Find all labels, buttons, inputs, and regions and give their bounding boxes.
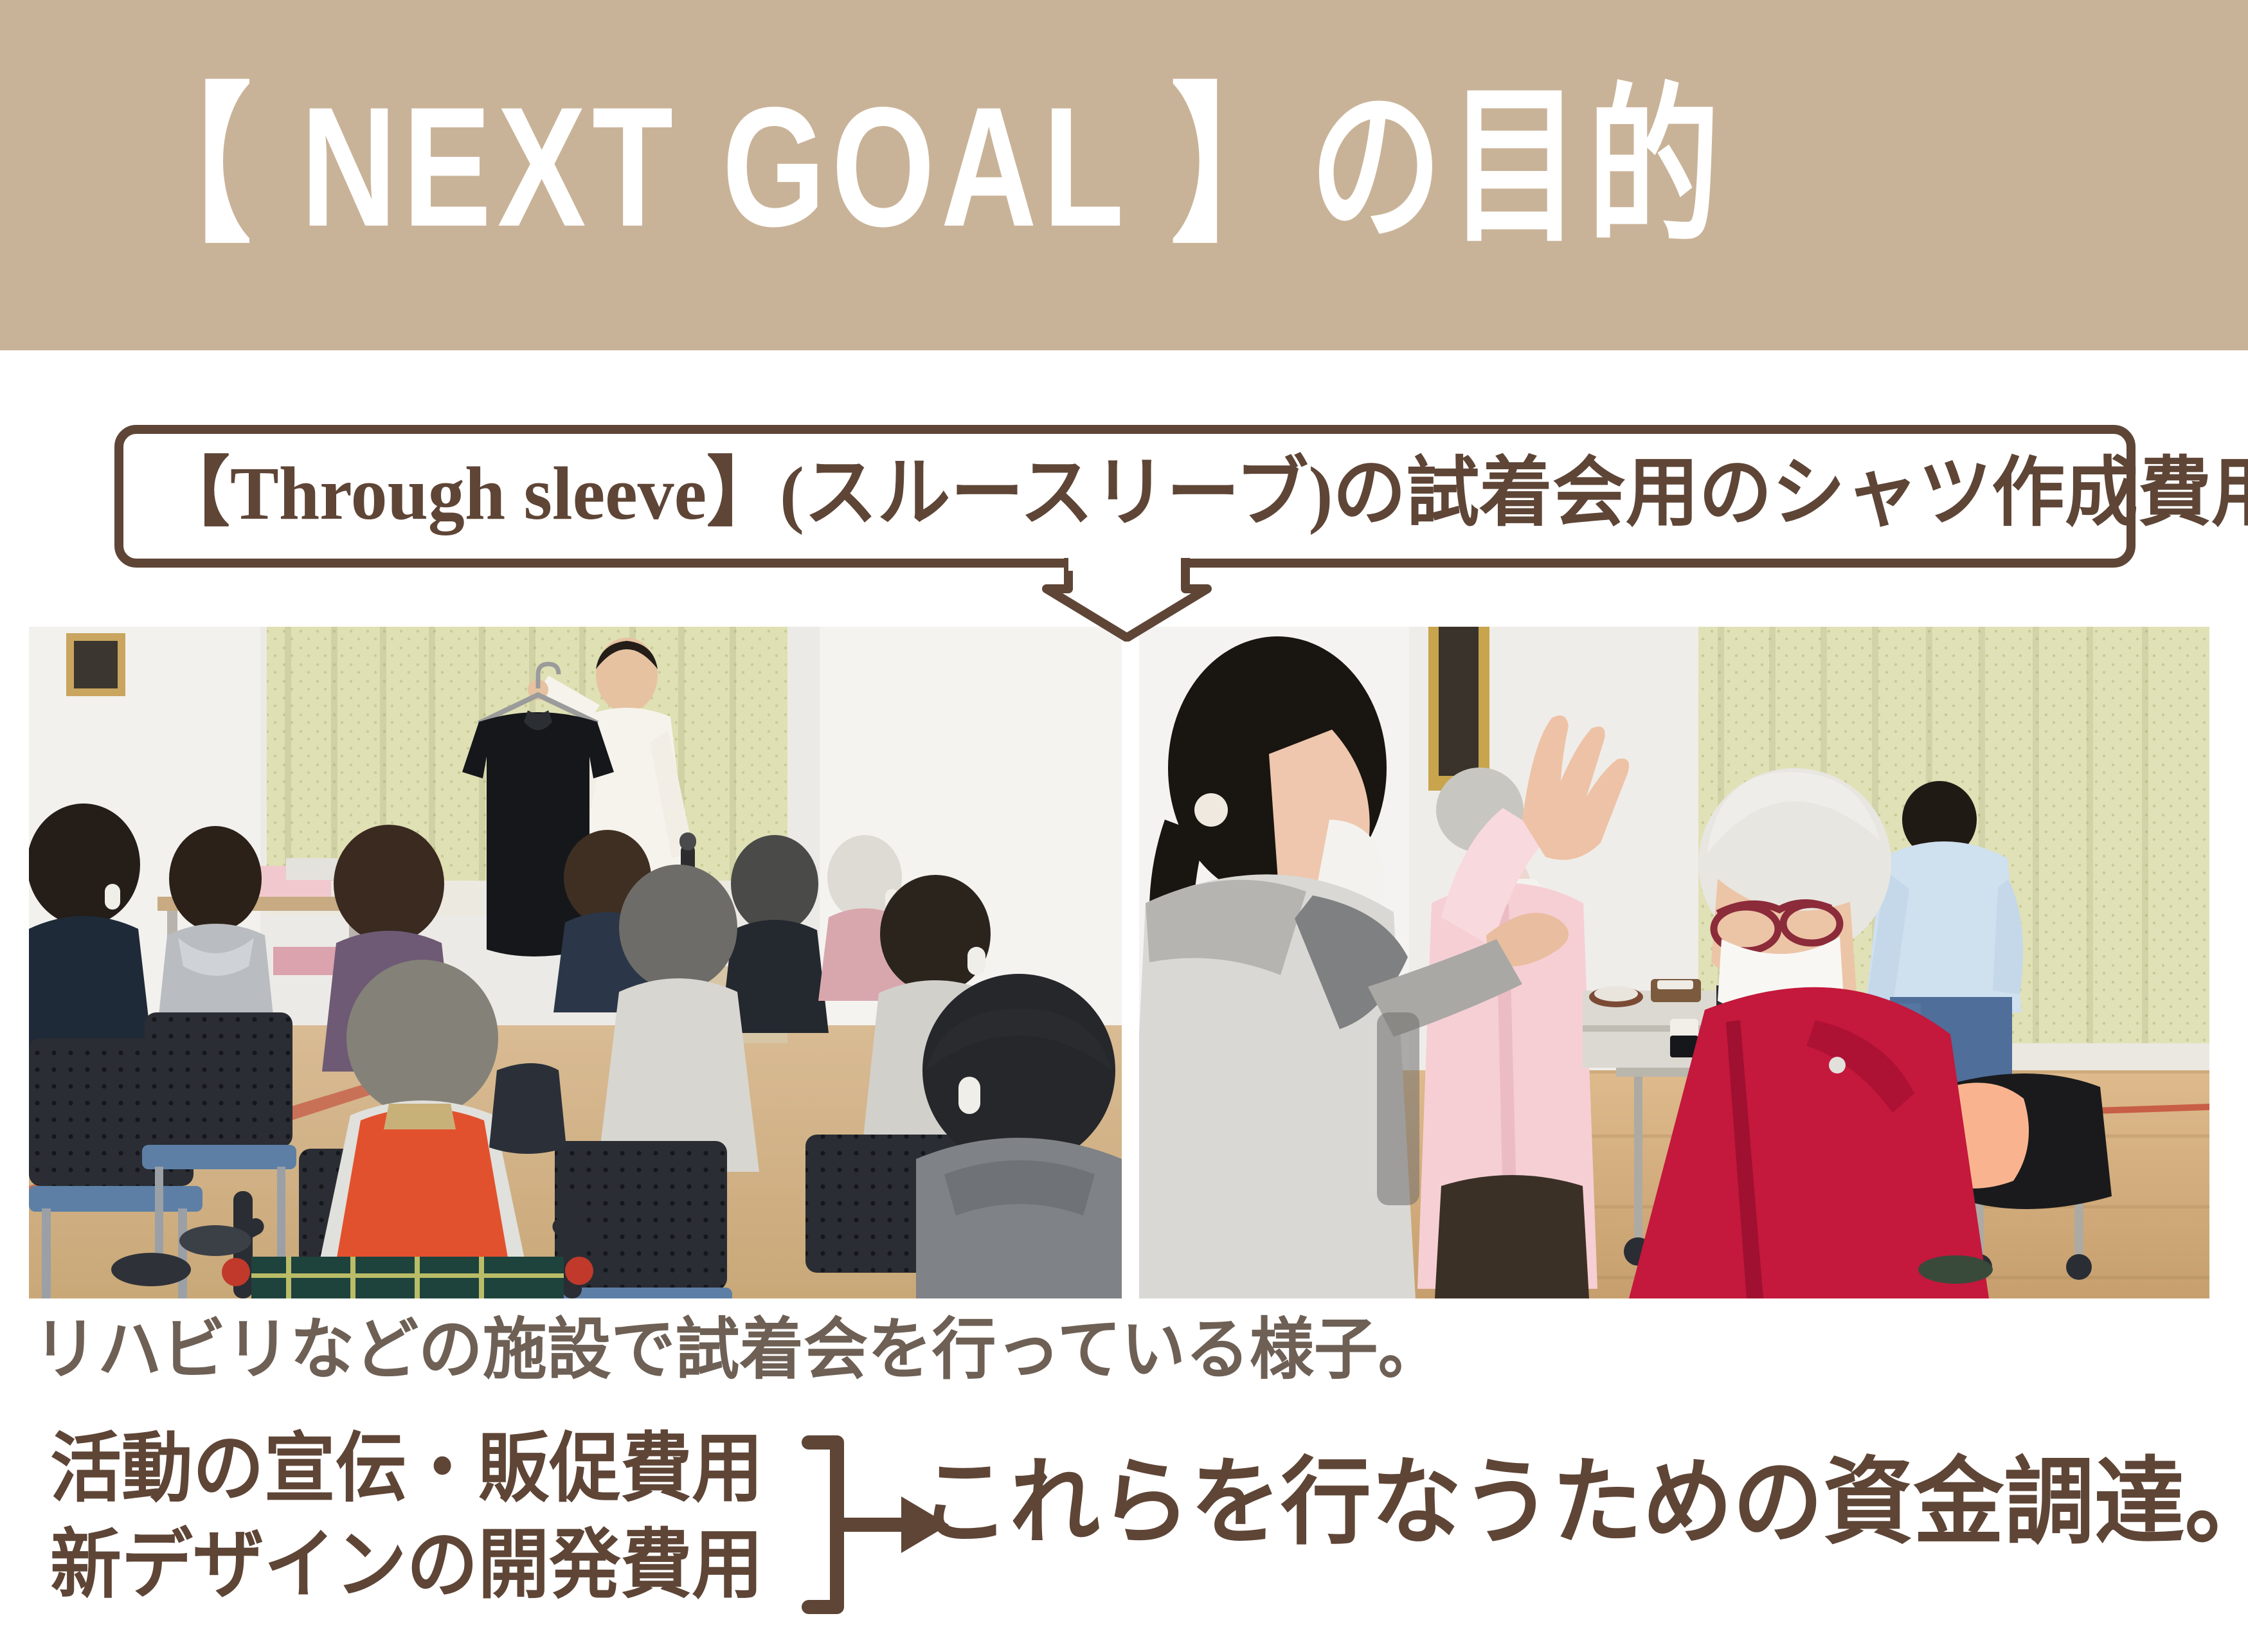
cost-item: 新デザインの開発費用 <box>50 1517 763 1613</box>
cost-item-list: 活動の宣伝・販促費用 新デザインの開発費用 <box>50 1421 809 1613</box>
page-title: 【 NEXT GOAL 】の目的 <box>119 82 1726 253</box>
photo-right <box>1139 627 2209 1298</box>
photo-left-illustration <box>29 627 1122 1298</box>
summary-block: 活動の宣伝・販促費用 新デザインの開発費用 これらを行なうための資金調達。 <box>0 1421 2248 1633</box>
callout-arrow-gap-mask <box>1068 554 1178 571</box>
header-banner: 【 NEXT GOAL 】の目的 <box>0 0 2248 350</box>
conclusion-text: これらを行なうための資金調達。 <box>919 1455 2248 1550</box>
cost-item: 活動の宣伝・販促費用 <box>50 1421 763 1517</box>
photo-left <box>29 627 1122 1298</box>
callout-box: 【Through sleeve】(スルースリーブ)の試着会用のシャツ作成費用 <box>114 425 2136 568</box>
photo-right-illustration <box>1139 627 2209 1298</box>
photo-caption: リハビリなどの施設で試着会を行っている様子。 <box>33 1316 1443 1383</box>
callout-text: 【Through sleeve】(スルースリーブ)の試着会用のシャツ作成費用 <box>157 456 2248 532</box>
